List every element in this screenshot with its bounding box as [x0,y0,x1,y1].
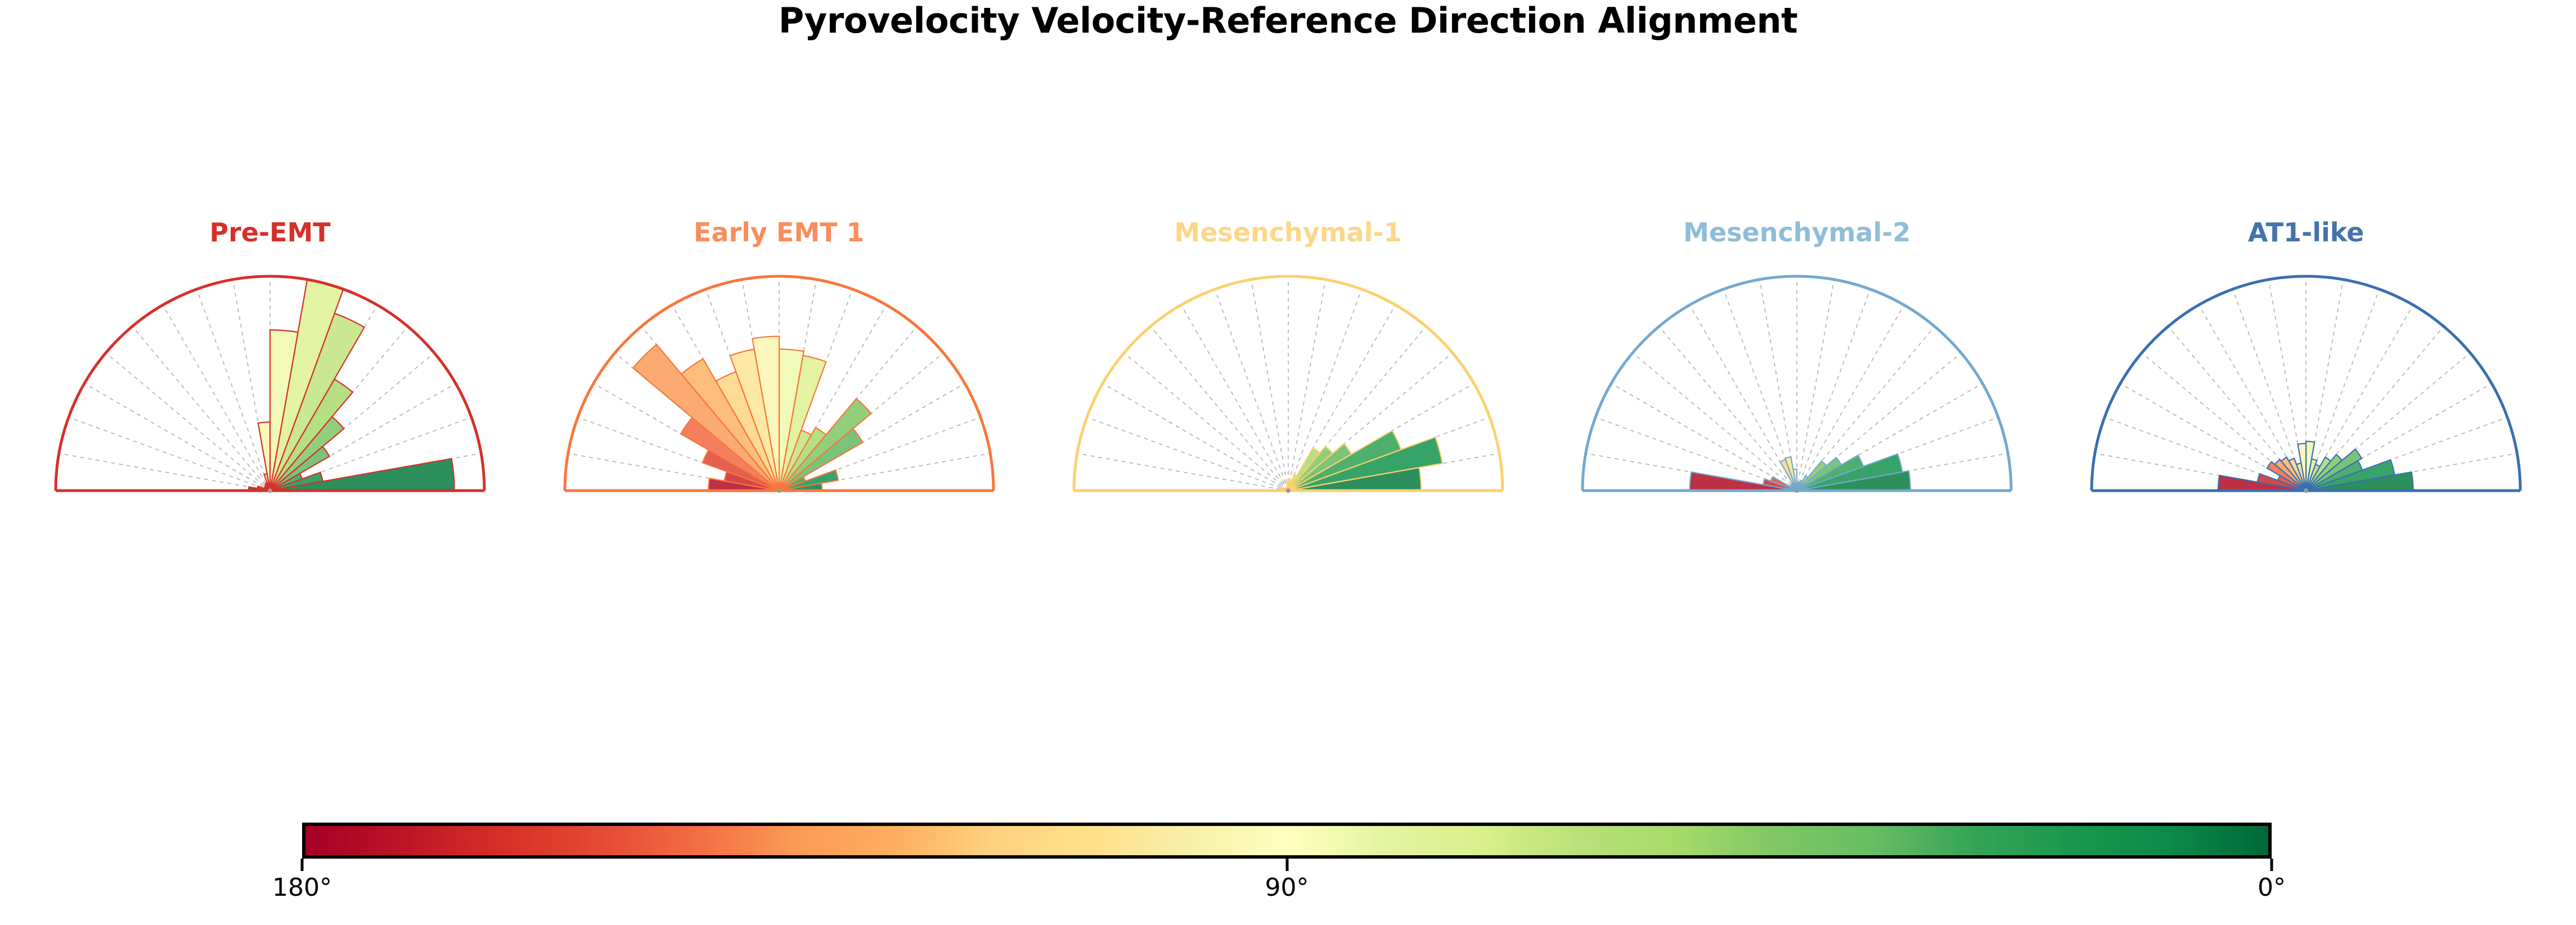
colorbar-gradient [302,823,2272,859]
grid-spoke [1077,453,1288,491]
rose-bars [249,280,455,491]
panel-title: Early EMT 1 [694,219,865,245]
panel-title: AT1-like [2248,219,2364,245]
panel-mesenchymal-1: Mesenchymal-1 [1041,219,1536,502]
grid-spoke [84,384,270,491]
colorbar-tick-label: 180° [272,873,332,902]
rose-bars [633,336,871,491]
grid-spoke [59,453,270,491]
polar-rose-mesenchymal-1 [1063,266,1513,502]
colorbar-tick-label: 0° [2258,873,2286,902]
panel-at1-like: AT1-like [2058,219,2553,502]
polar-origin-marker [1286,488,1291,493]
panel-pre-emt: Pre-EMT [23,219,518,502]
grid-spoke [1181,305,1288,491]
polar-rose-at1-like [2081,266,2531,502]
colorbar-tick-mark [301,859,304,871]
polar-origin-marker [777,488,781,493]
rose-plot-area [1063,266,1513,502]
rose-plot-area [45,266,495,502]
polar-rose-mesenchymal-2 [1572,266,2022,502]
panel-mesenchymal-2: Mesenchymal-2 [1549,219,2044,502]
panel-early-emt-1: Early EMT 1 [532,219,1027,502]
rose-plot-area [1572,266,2022,502]
polar-grid [1586,276,2008,491]
panel-title: Mesenchymal-1 [1174,219,1401,245]
colorbar-tick-mark [1285,859,1288,871]
polar-origin-marker [1795,488,1799,493]
colorbar-tick-label: 90° [1265,873,1309,902]
grid-spoke [1251,280,1288,491]
rose-bars [2218,441,2413,491]
polar-rose-pre-emt [45,266,495,502]
colorbar-ticks: 180°90°0° [302,859,2272,915]
panel-title: Mesenchymal-2 [1683,219,1910,245]
rose-plot-area [554,266,1004,502]
polar-origin-marker [268,488,272,493]
polar-rose-early-emt-1 [554,266,1004,502]
polar-panel-row: Pre-EMTEarly EMT 1Mesenchymal-1Mesenchym… [0,219,2576,580]
colorbar-tick-mark [2271,859,2273,871]
panel-title: Pre-EMT [209,219,330,245]
figure-root: Pyrovelocity Velocity-Reference Directio… [0,0,2576,925]
grid-spoke [163,305,271,491]
colorbar-area: 180°90°0° [302,823,2272,859]
grid-spoke [1797,280,1834,491]
rose-bars [1279,430,1442,491]
grid-spoke [1103,384,1288,491]
page-title: Pyrovelocity Velocity-Reference Directio… [0,0,2576,41]
rose-plot-area [2081,266,2531,502]
polar-origin-marker [2304,488,2308,493]
